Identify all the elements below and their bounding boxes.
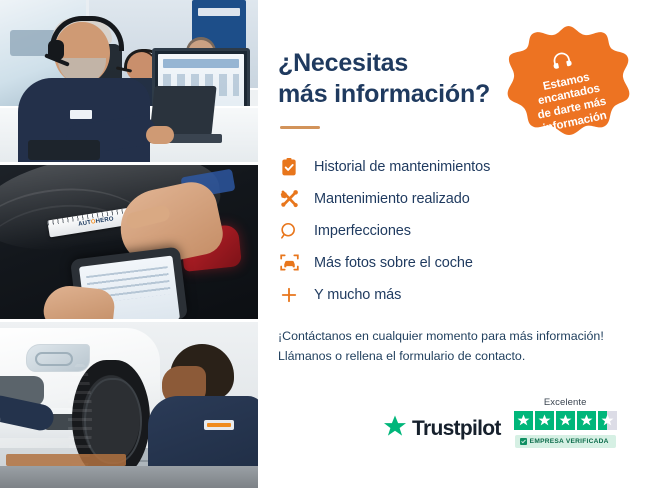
clipboard-check-icon xyxy=(278,156,300,178)
contact-line-2: Llámanos o rellena el formulario de cont… xyxy=(278,349,525,363)
verified-company-badge: EMPRESA VERIFICADA xyxy=(515,435,616,448)
feature-label: Mantenimiento realizado xyxy=(314,191,470,207)
call-center-agents-photo xyxy=(0,0,258,162)
star-filled xyxy=(514,411,533,430)
contact-line-1: ¡Contáctanos en cualquier momento para m… xyxy=(278,329,604,343)
feature-list: Historial de mantenimientos M xyxy=(278,151,628,310)
photo-collage: AUTOHERO xyxy=(0,0,258,488)
star-half xyxy=(598,411,617,430)
crossed-tools-icon xyxy=(278,188,300,210)
star-filled xyxy=(577,411,596,430)
desk-tablet xyxy=(28,140,100,160)
trustpilot-rating: Excelente xyxy=(514,397,617,448)
contact-text: ¡Contáctanos en cualquier momento para m… xyxy=(278,326,628,366)
promo-starburst-badge: Estamos encantados de darte más informac… xyxy=(500,24,636,156)
vehicle-lift xyxy=(0,466,258,488)
headline-line-1: ¿Necesitas xyxy=(278,49,408,77)
check-icon xyxy=(520,438,527,445)
trustpilot-wordmark: Trustpilot xyxy=(412,417,501,441)
trustpilot-logo[interactable]: Trustpilot xyxy=(383,415,501,448)
feature-item-imperfections: Imperfecciones xyxy=(278,215,628,246)
trustpilot-star-icon xyxy=(383,415,407,443)
starburst-shape xyxy=(500,24,636,156)
feature-label: Más fotos sobre el coche xyxy=(314,255,473,271)
vehicle-inspection-ruler-photo: AUTOHERO xyxy=(0,165,258,319)
star-rating xyxy=(514,411,617,430)
title-divider xyxy=(280,126,320,129)
magnifier-icon xyxy=(278,220,300,242)
car-focus-frame-icon xyxy=(278,252,300,274)
feature-label: Historial de mantenimientos xyxy=(314,159,490,175)
star-filled xyxy=(535,411,554,430)
lift-support-arm xyxy=(6,454,126,466)
feature-item-much-more: Y mucho más xyxy=(278,279,628,310)
page-title: ¿Necesitas más información? xyxy=(278,48,518,109)
feature-item-more-photos: Más fotos sobre el coche xyxy=(278,247,628,278)
plus-icon xyxy=(278,284,300,306)
feature-label: Imperfecciones xyxy=(314,223,411,239)
star-filled xyxy=(556,411,575,430)
agent-hand xyxy=(146,126,174,144)
headline-line-2: más información? xyxy=(278,80,490,108)
feature-label: Y mucho más xyxy=(314,287,401,303)
feature-item-maintenance-done: Mantenimiento realizado xyxy=(278,183,628,214)
trustpilot-widget[interactable]: Trustpilot Excelente xyxy=(383,397,617,448)
mechanic-wheel-photo xyxy=(0,322,258,488)
verified-label: EMPRESA VERIFICADA xyxy=(530,438,609,445)
info-promo-card: AUTOHERO xyxy=(0,0,650,488)
rating-label: Excelente xyxy=(544,397,587,408)
